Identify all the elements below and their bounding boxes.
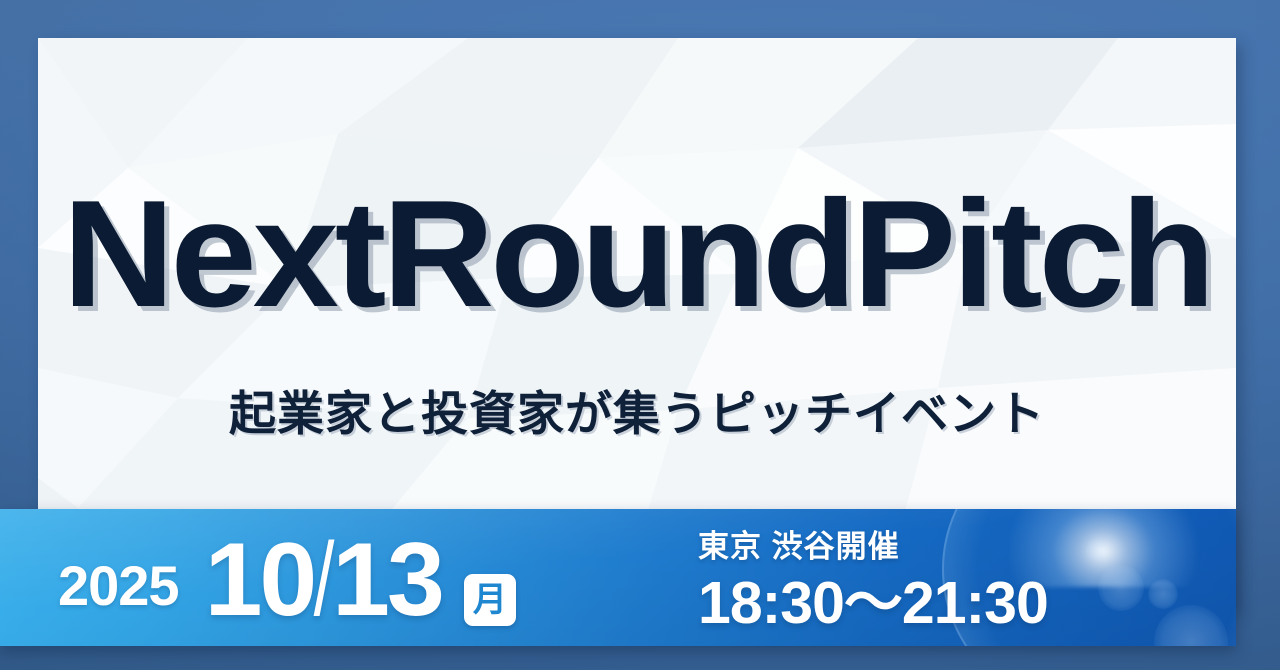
lens-flare-ghost [1148,579,1178,609]
event-date-group: 2025 10/13 月 [58,509,516,646]
info-bar: 2025 10/13 月 東京 渋谷開催 18:30〜21:30 [0,509,1236,646]
page-title: NextRoundPitch [38,178,1236,330]
venue-location: 東京 渋谷開催 [698,531,1048,562]
event-year: 2025 [58,558,179,614]
event-time: 18:30〜21:30 [698,574,1048,633]
event-day: 13 [332,528,442,632]
weekday-badge: 月 [464,574,516,626]
lens-flare-ghost [1086,539,1108,561]
event-month-day: 10/13 [205,528,442,632]
venue-time-group: 東京 渋谷開催 18:30〜21:30 [698,531,1048,633]
event-month: 10 [205,528,315,632]
subtitle: 起業家と投資家が集うピッチイベント [38,390,1236,437]
event-banner: NextRoundPitch 起業家と投資家が集うピッチイベント 2025 10… [0,0,1280,670]
date-separator: / [314,528,333,632]
lens-flare-ghost [1098,565,1144,611]
